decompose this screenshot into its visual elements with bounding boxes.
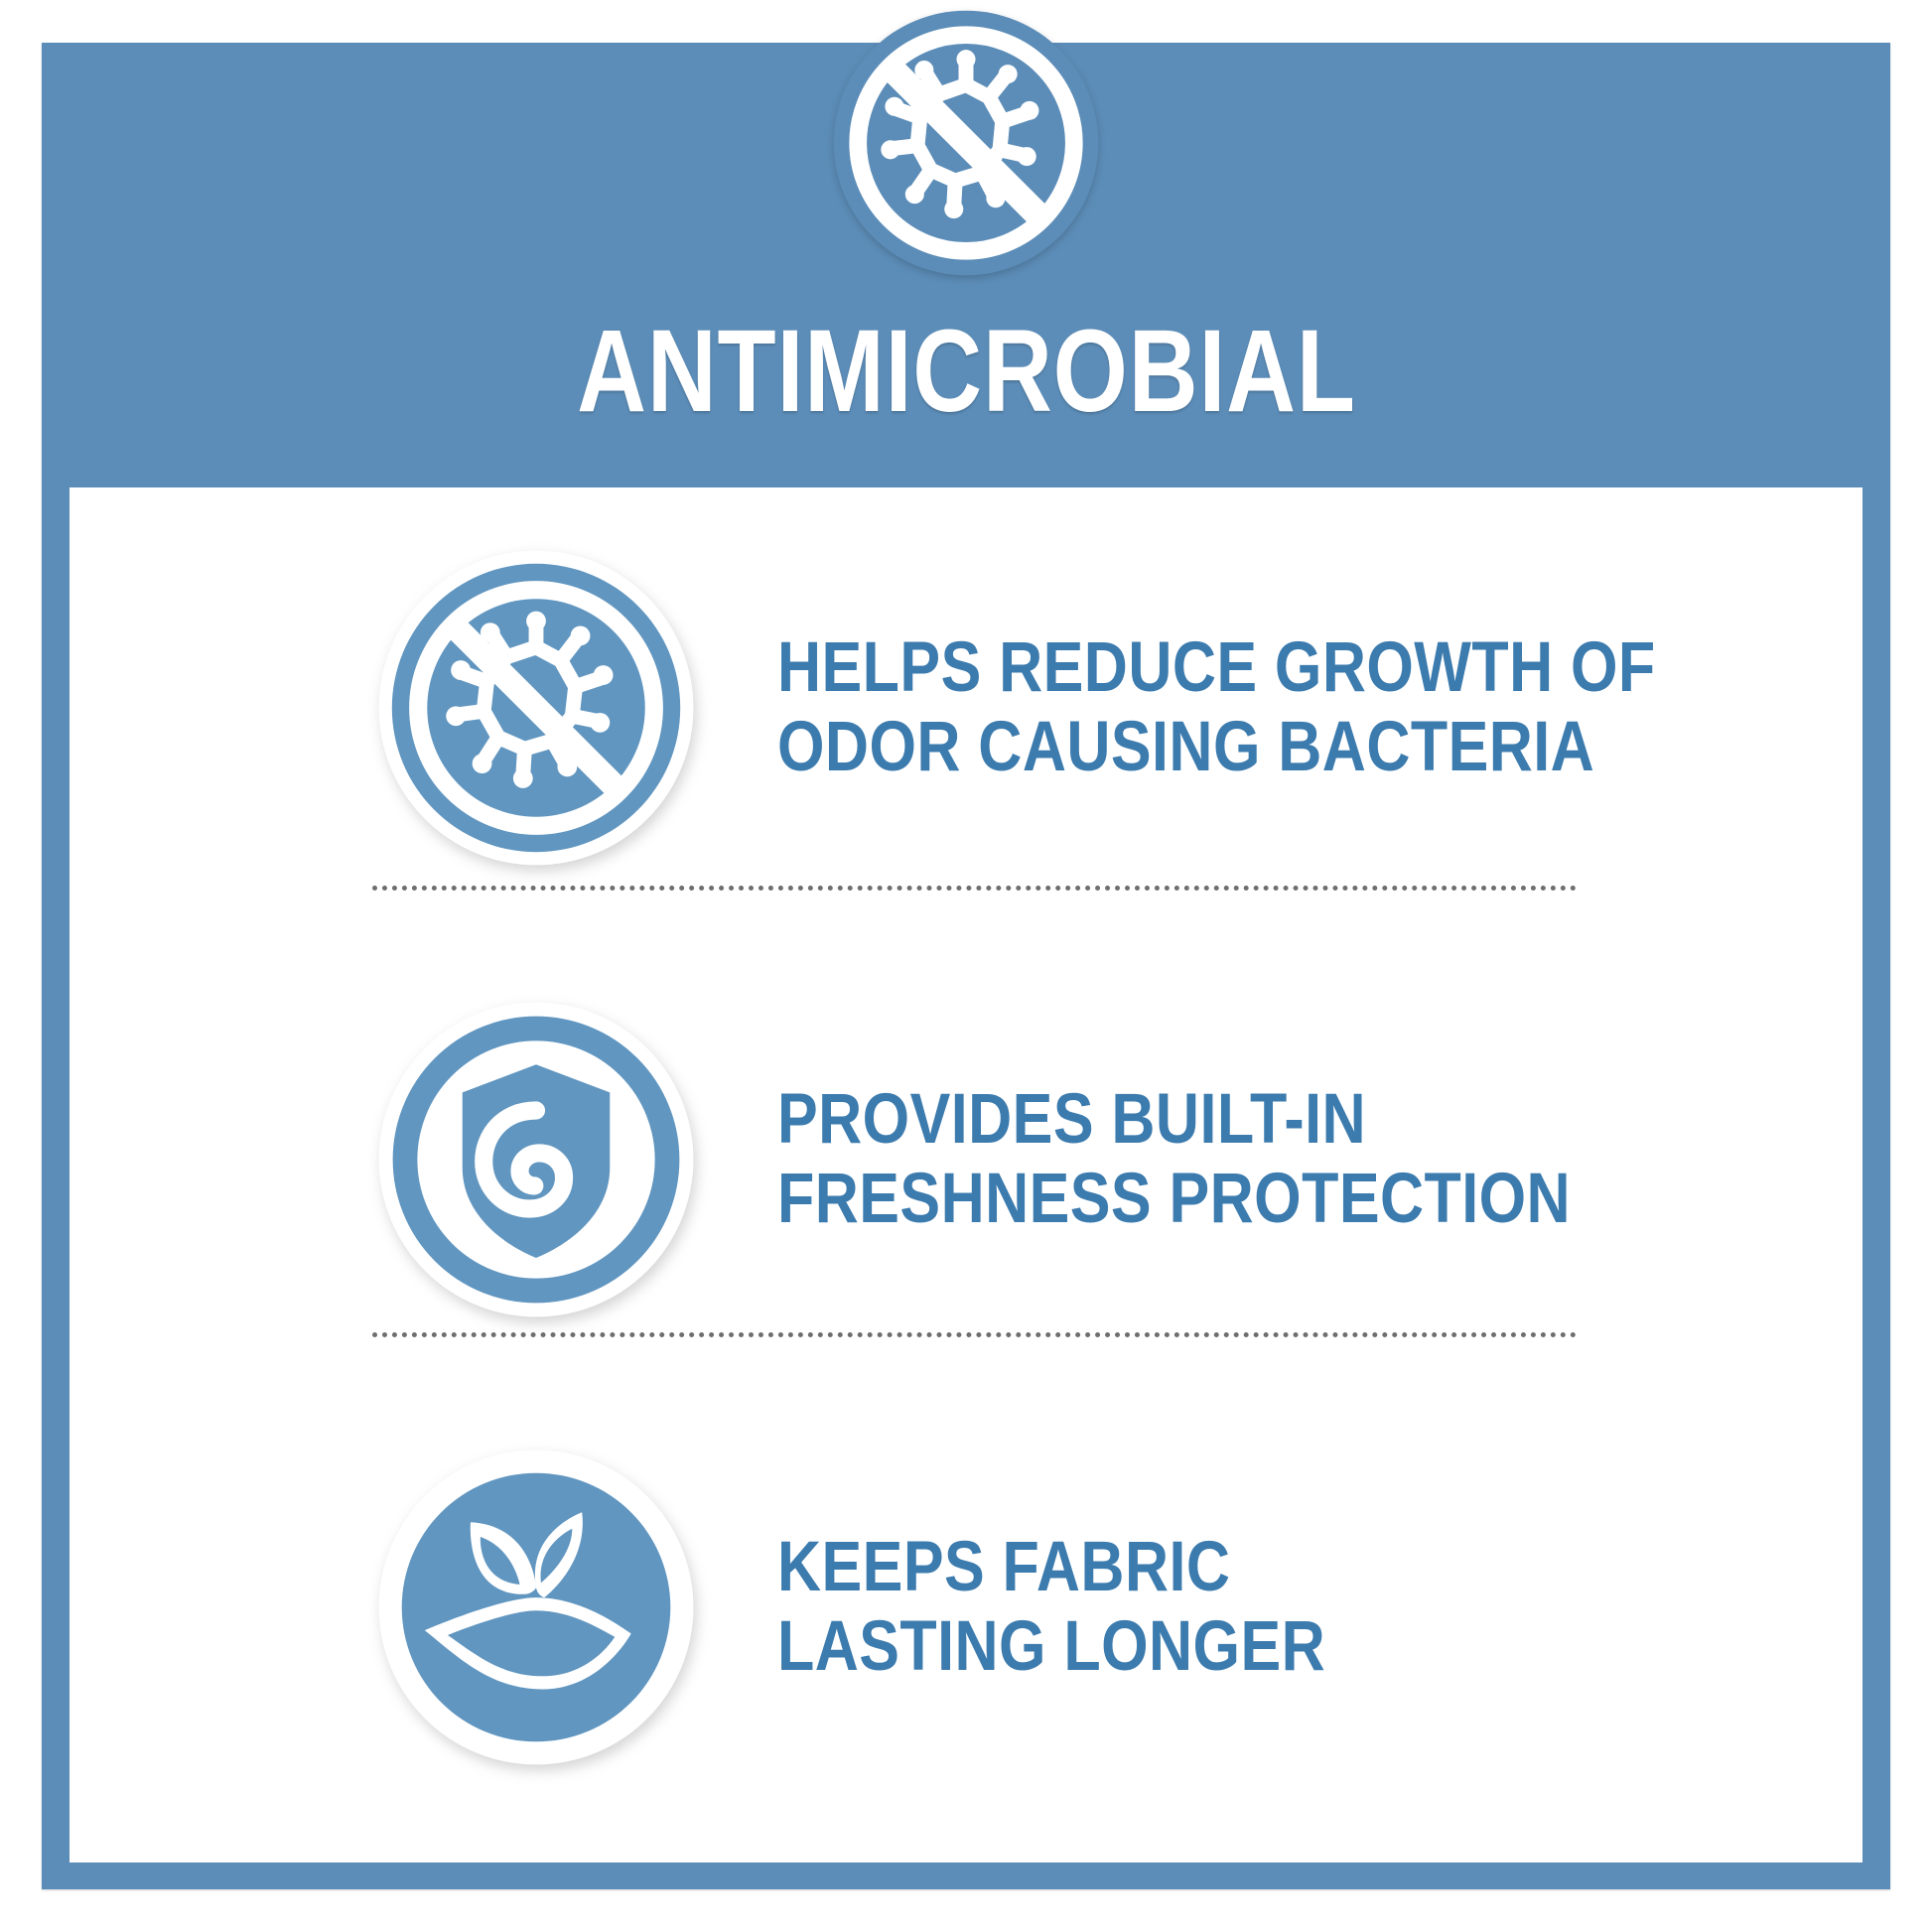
leaf-sprout-badge-icon: [372, 1444, 700, 1771]
antimicrobial-infographic: ANTIMICROBIAL: [0, 0, 1932, 1932]
feature-text: KEEPS FABRIC LASTING LONGER: [777, 1528, 1325, 1686]
divider: [372, 1332, 1577, 1337]
divider: [372, 886, 1577, 891]
feature-list: HELPS REDUCE GROWTH OF ODOR CAUSING BACT…: [69, 487, 1863, 1863]
feature-text-line1: HELPS REDUCE GROWTH OF: [777, 628, 1656, 708]
feature-row: KEEPS FABRIC LASTING LONGER: [69, 1419, 1863, 1796]
feature-text: HELPS REDUCE GROWTH OF ODOR CAUSING BACT…: [777, 628, 1656, 786]
feature-row: PROVIDES BUILT-IN FRESHNESS PROTECTION: [69, 971, 1863, 1348]
feature-text-line1: PROVIDES BUILT-IN: [777, 1080, 1571, 1160]
feature-text-line2: FRESHNESS PROTECTION: [777, 1160, 1571, 1239]
no-virus-icon: [831, 8, 1101, 278]
shield-swirl-badge-icon: [372, 996, 700, 1323]
feature-text-line1: KEEPS FABRIC: [777, 1528, 1325, 1607]
feature-text-line2: ODOR CAUSING BACTERIA: [777, 708, 1656, 787]
feature-row: HELPS REDUCE GROWTH OF ODOR CAUSING BACT…: [69, 519, 1863, 897]
no-germ-badge-icon: [372, 544, 700, 872]
feature-text: PROVIDES BUILT-IN FRESHNESS PROTECTION: [777, 1080, 1571, 1238]
feature-text-line2: LASTING LONGER: [777, 1607, 1325, 1687]
